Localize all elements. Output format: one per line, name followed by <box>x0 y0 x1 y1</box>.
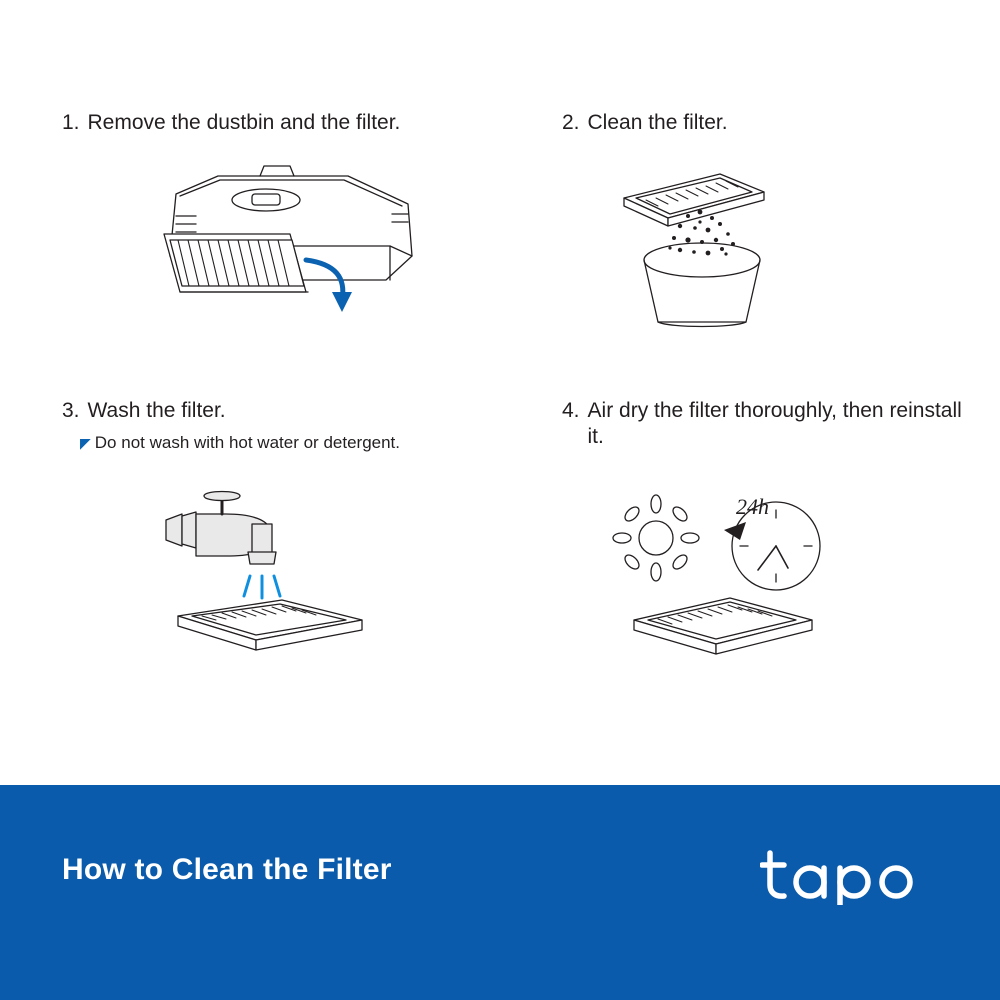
poster-canvas: 1. Remove the dustbin and the filter. 2.… <box>0 0 1000 1000</box>
step-2-heading: 2. Clean the filter. <box>562 110 962 136</box>
step-2: 2. Clean the filter. <box>562 110 962 136</box>
step-3-note: ◤ Do not wash with hot water or detergen… <box>80 433 532 453</box>
illustration-step-4: 24h <box>600 480 860 675</box>
step-1-number: 1. <box>62 110 80 136</box>
step-2-title: Clean the filter. <box>588 110 728 136</box>
step-3-note-text: Do not wash with hot water or detergent. <box>95 433 400 453</box>
step-3-number: 3. <box>62 398 80 424</box>
illustration-step-3 <box>160 480 380 675</box>
step-3: 3. Wash the filter. ◤ Do not wash with h… <box>62 398 532 453</box>
step-3-title: Wash the filter. <box>88 398 226 424</box>
step-4: 4. Air dry the filter thoroughly, then r… <box>562 398 962 450</box>
step-2-number: 2. <box>562 110 580 136</box>
clock-duration-label: 24h <box>736 494 769 519</box>
step-1-title: Remove the dustbin and the filter. <box>88 110 401 136</box>
illustration-step-1 <box>140 160 450 345</box>
steps-container: 1. Remove the dustbin and the filter. 2.… <box>0 0 1000 790</box>
step-4-title: Air dry the filter thoroughly, then rein… <box>588 398 962 450</box>
step-1-heading: 1. Remove the dustbin and the filter. <box>62 110 532 136</box>
step-4-heading: 4. Air dry the filter thoroughly, then r… <box>562 398 962 450</box>
footer-bar: How to Clean the Filter <box>0 785 1000 1000</box>
tapo-logo <box>760 843 940 905</box>
illustration-step-2 <box>600 160 800 345</box>
footer-title: How to Clean the Filter <box>62 853 392 887</box>
note-marker-icon: ◤ <box>80 434 91 452</box>
step-4-number: 4. <box>562 398 580 424</box>
step-3-heading: 3. Wash the filter. <box>62 398 532 424</box>
step-1: 1. Remove the dustbin and the filter. <box>62 110 532 136</box>
